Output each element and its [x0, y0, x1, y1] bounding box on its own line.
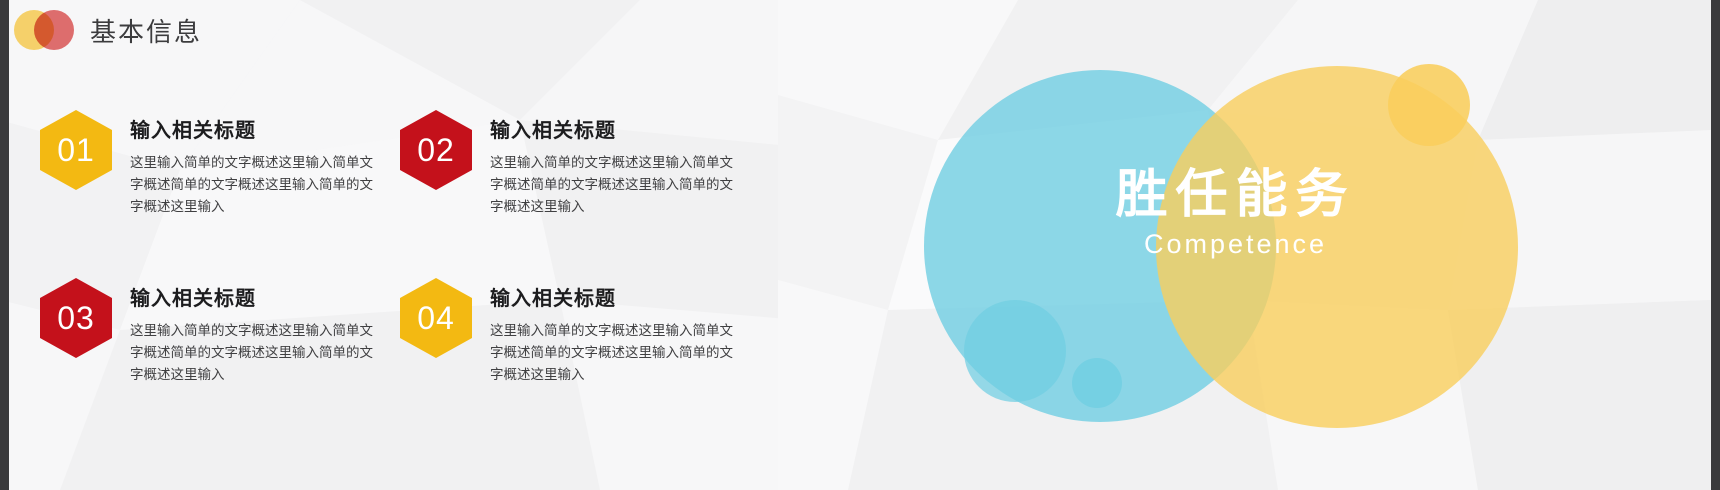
feature-item-03[interactable]: 03 输入相关标题 这里输入简单的文字概述这里输入简单文字概述简单的文字概述这里… — [40, 272, 400, 440]
feature-body: 这里输入简单的文字概述这里输入简单文字概述简单的文字概述这里输入简单的文字概述这… — [490, 152, 735, 218]
hexagon-badge-02: 02 — [400, 110, 472, 190]
panel-title-block: 胜任能务 Competence — [778, 168, 1711, 260]
left-edge-rail — [0, 0, 9, 490]
badge-number: 01 — [57, 134, 95, 166]
badge-number: 04 — [417, 302, 455, 334]
panel-title: 胜任能务 — [778, 168, 1693, 223]
slide-header: 基本信息 — [14, 8, 202, 52]
feature-body: 这里输入简单的文字概述这里输入简单文字概述简单的文字概述这里输入简单的文字概述这… — [130, 320, 375, 386]
feature-title: 输入相关标题 — [490, 120, 735, 142]
right-edge-rail — [1711, 0, 1720, 490]
feature-text-03: 输入相关标题 这里输入简单的文字概述这里输入简单文字概述简单的文字概述这里输入简… — [130, 272, 375, 386]
feature-title: 输入相关标题 — [130, 120, 375, 142]
feature-text-02: 输入相关标题 这里输入简单的文字概述这里输入简单文字概述简单的文字概述这里输入简… — [490, 104, 735, 218]
hexagon-badge-03: 03 — [40, 278, 112, 358]
presentation-slide: 基本信息 01 输入相关标题 这里输入简单的文字概述这里输入简单文字概述简单的文… — [0, 0, 1720, 490]
feature-item-02[interactable]: 02 输入相关标题 这里输入简单的文字概述这里输入简单文字概述简单的文字概述这里… — [400, 104, 760, 272]
feature-items-grid: 01 输入相关标题 这里输入简单的文字概述这里输入简单文字概述简单的文字概述这里… — [40, 104, 760, 440]
page-title: 基本信息 — [90, 12, 202, 49]
feature-item-04[interactable]: 04 输入相关标题 这里输入简单的文字概述这里输入简单文字概述简单的文字概述这里… — [400, 272, 760, 440]
yellow-small-circle — [1388, 64, 1470, 146]
blue-small-circle — [1072, 358, 1122, 408]
dual-circle-logo-icon — [14, 8, 74, 52]
blue-medium-circle — [964, 300, 1066, 402]
feature-text-04: 输入相关标题 这里输入简单的文字概述这里输入简单文字概述简单的文字概述这里输入简… — [490, 272, 735, 386]
badge-number: 02 — [417, 134, 455, 166]
feature-body: 这里输入简单的文字概述这里输入简单文字概述简单的文字概述这里输入简单的文字概述这… — [130, 152, 375, 218]
panel-subtitle: Competence — [778, 229, 1693, 260]
right-visual-panel: 胜任能务 Competence — [778, 0, 1711, 490]
logo-circle-right — [34, 10, 74, 50]
badge-number: 03 — [57, 302, 95, 334]
feature-text-01: 输入相关标题 这里输入简单的文字概述这里输入简单文字概述简单的文字概述这里输入简… — [130, 104, 375, 218]
feature-title: 输入相关标题 — [490, 288, 735, 310]
hexagon-badge-01: 01 — [40, 110, 112, 190]
feature-title: 输入相关标题 — [130, 288, 375, 310]
feature-item-01[interactable]: 01 输入相关标题 这里输入简单的文字概述这里输入简单文字概述简单的文字概述这里… — [40, 104, 400, 272]
hexagon-badge-04: 04 — [400, 278, 472, 358]
feature-body: 这里输入简单的文字概述这里输入简单文字概述简单的文字概述这里输入简单的文字概述这… — [490, 320, 735, 386]
